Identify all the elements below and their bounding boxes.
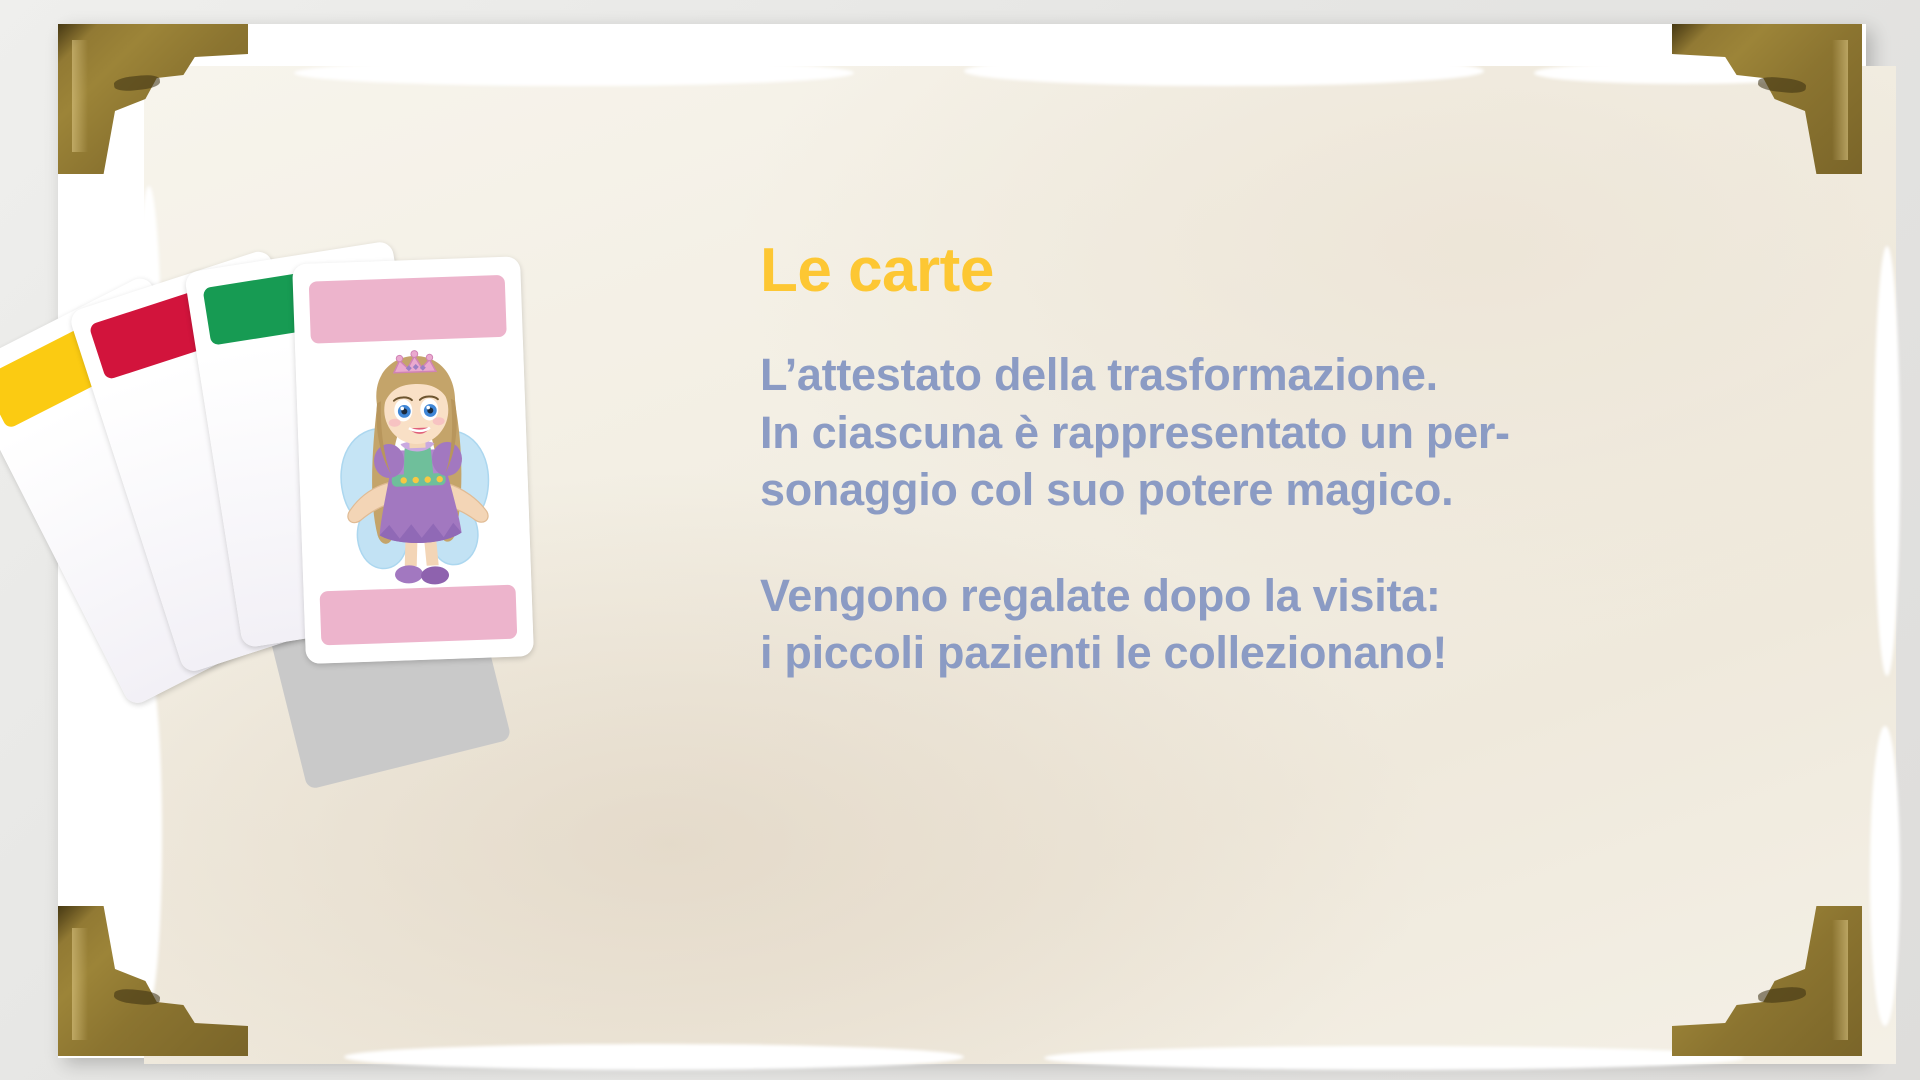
- paragraph-line: Vengono regalate dopo la visita:: [760, 567, 1720, 625]
- fairy-princess-icon: [313, 345, 518, 602]
- paragraph-1: L’attestato della trasformazione. In cia…: [760, 346, 1720, 519]
- paper-torn-edge: [1044, 1046, 1744, 1070]
- corner-ornament-bottom-left: [58, 906, 248, 1056]
- text-column: Le carte L’attestato della trasformazion…: [760, 240, 1720, 682]
- paragraph-line: sonaggio col suo potere magico.: [760, 461, 1720, 519]
- corner-ornament-top-left: [58, 24, 248, 174]
- card-pink-fairy: [292, 256, 534, 664]
- slide-canvas: Le carte L’attestato della trasformazion…: [0, 0, 1920, 1080]
- wood-highlight: [72, 928, 88, 1040]
- paragraph-line: In ciascuna è rappresentato un per-: [760, 404, 1720, 462]
- paragraph-line: i piccoli pazienti le collezionano!: [760, 624, 1720, 682]
- card-bottom-band-pink: [320, 585, 518, 646]
- corner-ornament-top-right: [1672, 24, 1862, 174]
- paragraph-line: L’attestato della trasformazione.: [760, 346, 1720, 404]
- paragraph-2: Vengono regalate dopo la visita: i picco…: [760, 567, 1720, 682]
- wood-highlight: [1832, 40, 1848, 160]
- wood-highlight: [72, 40, 88, 152]
- card-stack-illustration: [120, 200, 700, 800]
- page-title: Le carte: [760, 240, 1720, 302]
- corner-ornament-bottom-right: [1672, 906, 1862, 1056]
- paper-torn-edge: [1874, 246, 1900, 676]
- paper-torn-edge: [964, 56, 1484, 86]
- paper-torn-edge: [344, 1044, 964, 1070]
- card-band-pink: [309, 275, 507, 344]
- paper-torn-edge: [1870, 726, 1900, 1026]
- paper-torn-edge: [294, 60, 854, 86]
- wood-highlight: [1832, 920, 1848, 1040]
